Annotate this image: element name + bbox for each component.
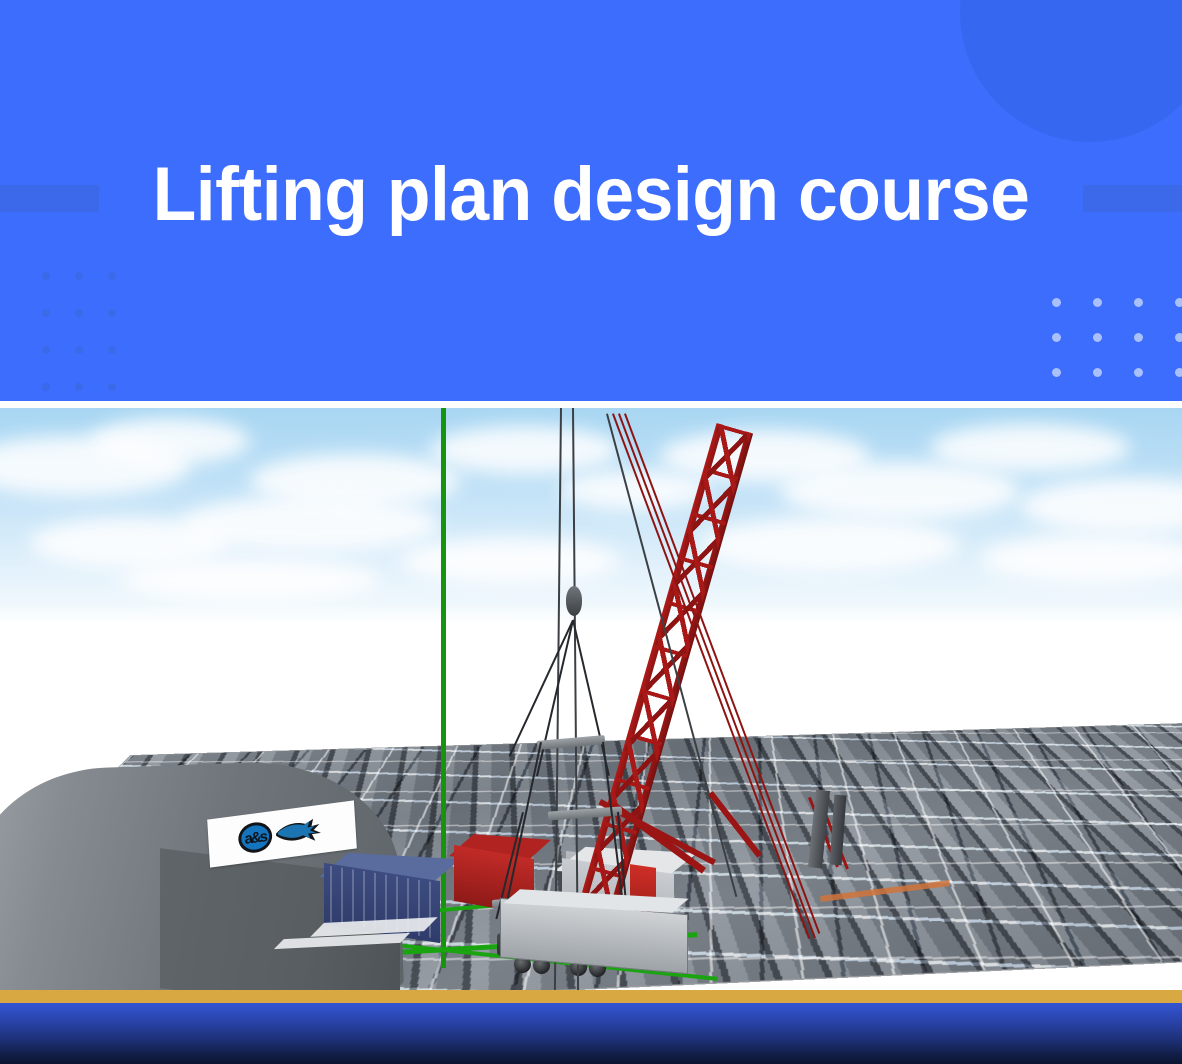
dot: [75, 346, 83, 354]
cloud: [90, 418, 250, 464]
dot: [42, 272, 50, 280]
cloud: [700, 518, 960, 572]
dot: [42, 309, 50, 317]
dot: [1134, 368, 1143, 377]
cloud: [930, 424, 1130, 472]
dot: [75, 309, 83, 317]
dot: [1175, 368, 1182, 377]
dot: [1134, 298, 1143, 307]
dot: [42, 383, 50, 391]
lift-plan-3d-render: a&s: [0, 408, 1182, 990]
presentation-slide: Lifting plan design course: [0, 0, 1182, 1064]
wrench-icon: [273, 815, 326, 848]
dot: [1052, 368, 1061, 377]
company-logo-icon: a&s: [237, 820, 273, 854]
dot: [1175, 298, 1182, 307]
dot: [75, 272, 83, 280]
dot: [75, 383, 83, 391]
axis-line-vertical: [441, 408, 446, 968]
dot: [108, 346, 116, 354]
dot: [108, 309, 116, 317]
cloud: [430, 426, 620, 474]
hook-block: [566, 586, 582, 616]
dot: [1093, 333, 1102, 342]
dot-grid-right: [1052, 298, 1182, 401]
navy-gradient-band: [0, 1003, 1182, 1064]
dot: [1093, 298, 1102, 307]
gold-accent-band: [0, 990, 1182, 1003]
page-title: Lifting plan design course: [35, 152, 1146, 238]
slide-header-banner: Lifting plan design course: [0, 0, 1182, 401]
dot-grid-left: [42, 272, 141, 401]
dot: [108, 383, 116, 391]
dot: [1052, 298, 1061, 307]
dot: [42, 346, 50, 354]
cloud: [120, 558, 380, 602]
corner-circle-decoration: [960, 0, 1182, 142]
dot: [1175, 333, 1182, 342]
dot: [1093, 368, 1102, 377]
cloud: [400, 538, 620, 584]
dot: [1134, 333, 1143, 342]
dot: [1052, 333, 1061, 342]
dot: [108, 272, 116, 280]
cloud: [780, 462, 1020, 520]
